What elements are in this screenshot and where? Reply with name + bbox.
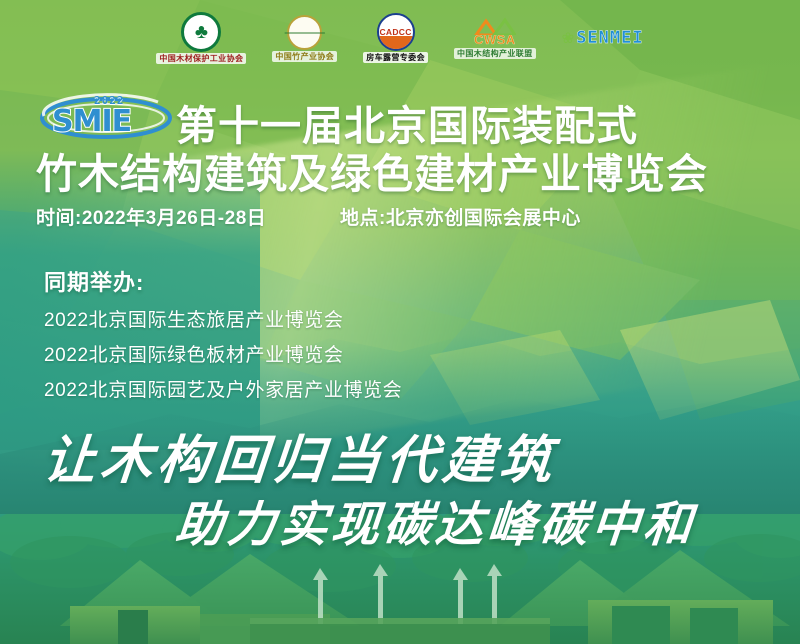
event-date: 时间:2022年3月26日-28日: [36, 203, 266, 230]
logo-label-cn: 中国竹产业协会: [272, 51, 337, 62]
event-venue: 地点:北京亦创国际会展中心: [340, 203, 581, 230]
concurrent-event-item: 2022北京国际园艺及户外家居产业博览会: [44, 375, 402, 402]
house-roof-icon: CWSA: [468, 17, 522, 47]
logo-label-cn: 房车露营专委会: [363, 52, 428, 63]
logo-bamboo-industry-association[interactable]: ⸻ 中国竹产业协会: [272, 15, 337, 62]
smie-wordmark: SMIE: [52, 104, 131, 139]
partner-logo-strip: ♣ 中国木材保护工业协会 ⸻ 中国竹产业协会 CADCC 房车露营专委会 CWS…: [0, 6, 800, 70]
slogan-line-2: 助力实现碳达峰碳中和: [173, 485, 699, 555]
house-roof-shape: [474, 17, 516, 35]
logo-cwsa-wood-structure-alliance[interactable]: CWSA 中国木结构产业联盟: [454, 17, 536, 59]
senmei-wordmark: SENMEI: [576, 28, 643, 48]
concurrent-events-heading: 同期举办:: [44, 265, 144, 297]
exhibition-poster: ♣ 中国木材保护工业协会 ⸻ 中国竹产业协会 CADCC 房车露营专委会 CWS…: [0, 0, 800, 644]
bamboo-icon: ⸻: [287, 15, 322, 50]
leaf-icon: ❀: [562, 31, 575, 46]
pine-tree-icon: ♣: [181, 12, 221, 52]
logo-label-cn: 中国木结构产业联盟: [454, 48, 536, 59]
logo-label-cn: 中国木材保护工业协会: [156, 53, 246, 64]
logo-china-wood-protection-association[interactable]: ♣ 中国木材保护工业协会: [156, 12, 246, 64]
concurrent-event-item: 2022北京国际绿色板材产业博览会: [44, 340, 343, 367]
poster-title-line-2: 竹木结构建筑及绿色建材产业博览会: [36, 140, 708, 200]
logo-senmei[interactable]: ❀ SENMEI: [562, 28, 644, 48]
cadcc-seal-icon: CADCC: [377, 13, 415, 51]
smie-logo[interactable]: 2022 SMIE: [38, 92, 174, 140]
logo-cadcc-rv-camping-committee[interactable]: CADCC 房车露营专委会: [363, 13, 428, 63]
slogan-line-1: 让木构回归当代建筑: [41, 418, 561, 493]
concurrent-event-item: 2022北京国际生态旅居产业博览会: [44, 305, 343, 332]
